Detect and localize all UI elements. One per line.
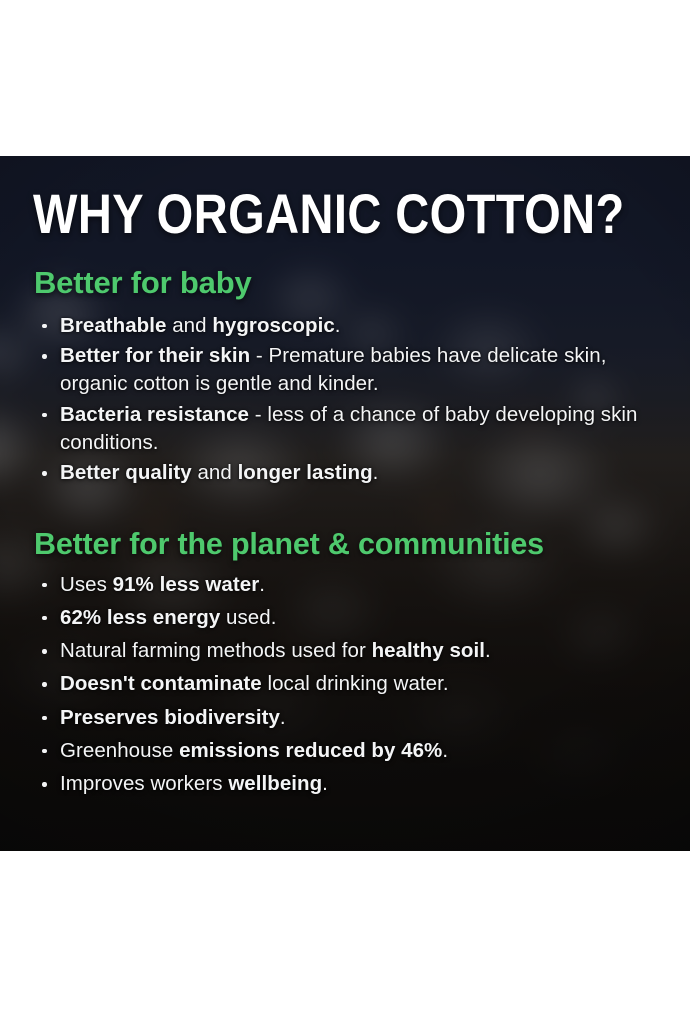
bullet-list-planet: Uses 91% less water.62% less energy used… [34,571,662,799]
list-item-emphasis: wellbeing [228,772,322,795]
list-item-text: . [322,772,328,795]
list-item-text: Natural farming methods used for [60,639,372,662]
list-item-emphasis: hygroscopic [212,314,334,337]
list-item: Breathable and hygroscopic. [34,312,662,340]
list-item-emphasis: Bacteria resistance [60,403,249,426]
list-item-emphasis: Breathable [60,314,166,337]
list-item-text: local drinking water. [262,672,449,695]
list-item-text: . [259,573,265,596]
list-item-text: . [335,314,341,337]
list-item: 62% less energy used. [34,604,662,632]
section-better-for-planet: Better for the planet & communities Uses… [28,527,662,798]
list-item-emphasis: 91% less water [113,573,260,596]
list-item-text: Improves workers [60,772,228,795]
page-canvas: WHY ORGANIC COTTON? Better for baby Brea… [0,0,690,1024]
list-item-emphasis: 62% less energy [60,606,220,629]
infographic-panel: WHY ORGANIC COTTON? Better for baby Brea… [0,156,690,851]
list-item: Improves workers wellbeing. [34,770,662,798]
list-item: Preserves biodiversity. [34,704,662,732]
list-item-text: . [373,461,379,484]
page-title: WHY ORGANIC COTTON? [28,156,561,242]
section-heading-planet: Better for the planet & communities [34,527,662,561]
list-item-emphasis: emissions reduced by 46% [179,739,442,762]
list-item: Better quality and longer lasting. [34,459,662,487]
list-item-emphasis: Preserves biodiversity [60,706,280,729]
list-item-text: . [280,706,286,729]
list-item-text: . [442,739,448,762]
bullet-list-baby: Breathable and hygroscopic.Better for th… [34,312,662,488]
list-item-text: Uses [60,573,113,596]
list-item: Natural farming methods used for healthy… [34,637,662,665]
section-better-for-baby: Better for baby Breathable and hygroscop… [28,242,662,487]
list-item: Better for their skin - Premature babies… [34,342,662,399]
list-item-emphasis: healthy soil [372,639,485,662]
list-item-text: . [485,639,491,662]
list-item-text: and [192,461,238,484]
list-item-emphasis: Doesn't contaminate [60,672,262,695]
list-item: Doesn't contaminate local drinking water… [34,670,662,698]
list-item-emphasis: Better for their skin [60,344,250,367]
list-item-emphasis: Better quality [60,461,192,484]
list-item-text: Greenhouse [60,739,179,762]
section-heading-baby: Better for baby [34,242,662,301]
infographic-content: WHY ORGANIC COTTON? Better for baby Brea… [0,156,690,799]
list-item: Bacteria resistance - less of a chance o… [34,401,662,458]
list-item-text: and [166,314,212,337]
list-item-text: used. [220,606,276,629]
list-item: Uses 91% less water. [34,571,662,599]
list-item-emphasis: longer lasting [238,461,373,484]
list-item: Greenhouse emissions reduced by 46%. [34,737,662,765]
